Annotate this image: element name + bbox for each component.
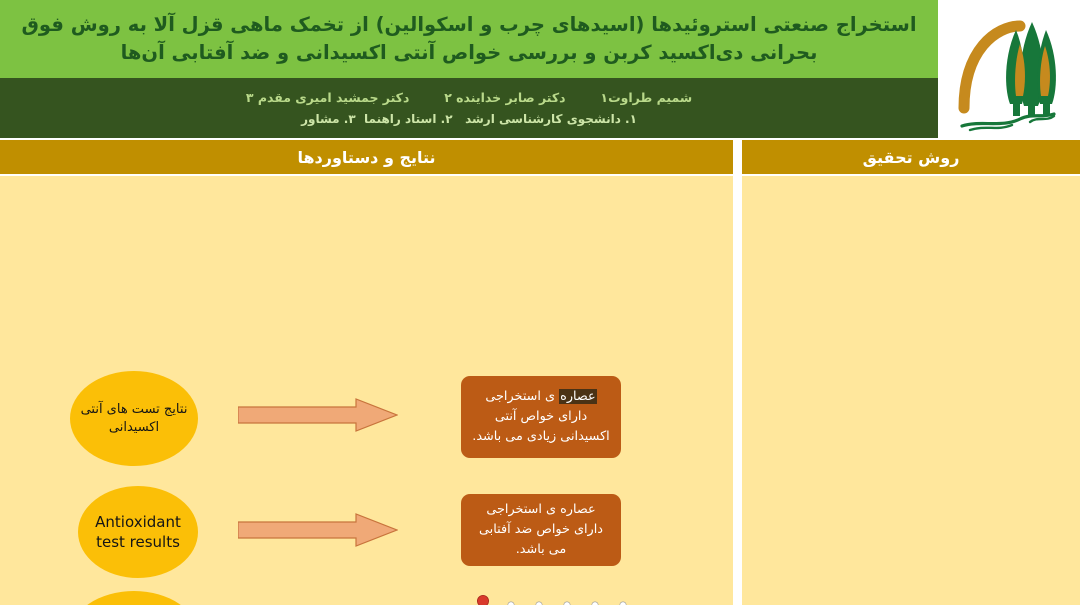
result-ellipse-2: Antioxidant test results [78,486,198,578]
method-panel: تخمک ماهی قزل آلا [742,176,1080,605]
flow-arrow-2 [238,513,398,547]
page-title: استخراج صنعتی استروئیدها (اسیدهای چرب و … [8,11,930,68]
result-ellipse-1: نتایج تست های آنتی اکسیدانی [70,371,198,466]
result-ellipse-2-label: Antioxidant test results [78,512,198,553]
flow-arrow-1 [238,398,398,432]
selected-word: عصاره [559,389,597,404]
author-affiliations: ۱. دانشجوی کارشناسی ارشد ۲. استاد راهنما… [301,112,637,126]
result-ellipse-1-label: نتایج تست های آنتی اکسیدانی [70,401,198,436]
university-logo [938,0,1080,138]
result-statement-2-text: عصاره ی استخراجی دارای خواص ضد آفتابی می… [471,500,611,559]
result-ellipse-3: Antioxidant test results [70,591,198,605]
section-header-method: روش تحقیق [742,140,1080,174]
result-statement-1-text: عصاره ی استخراجی دارای خواص آنتی اکسیدان… [471,387,611,446]
tarbiat-modares-logo-icon [946,4,1072,134]
result-statement-1: عصاره ی استخراجی دارای خواص آنتی اکسیدان… [461,376,621,458]
authors-band: شمیم طراوت۱ دکتر صابر خداینده ۲ دکتر جمش… [0,78,938,138]
poster-root: استخراج صنعتی استروئیدها (اسیدهای چرب و … [0,0,1080,605]
result-statement-2: عصاره ی استخراجی دارای خواص ضد آفتابی می… [461,494,621,566]
saturated-fatty-acid-molecule [455,591,695,605]
results-panel: نتایج تست های آنتی اکسیدانی عصاره ی استخ… [0,176,733,605]
section-header-results: نتایج و دستاوردها [0,140,733,174]
poster-title-band: استخراج صنعتی استروئیدها (اسیدهای چرب و … [0,0,938,78]
panel-divider [733,140,742,605]
authors-list: شمیم طراوت۱ دکتر صابر خداینده ۲ دکتر جمش… [246,90,692,105]
